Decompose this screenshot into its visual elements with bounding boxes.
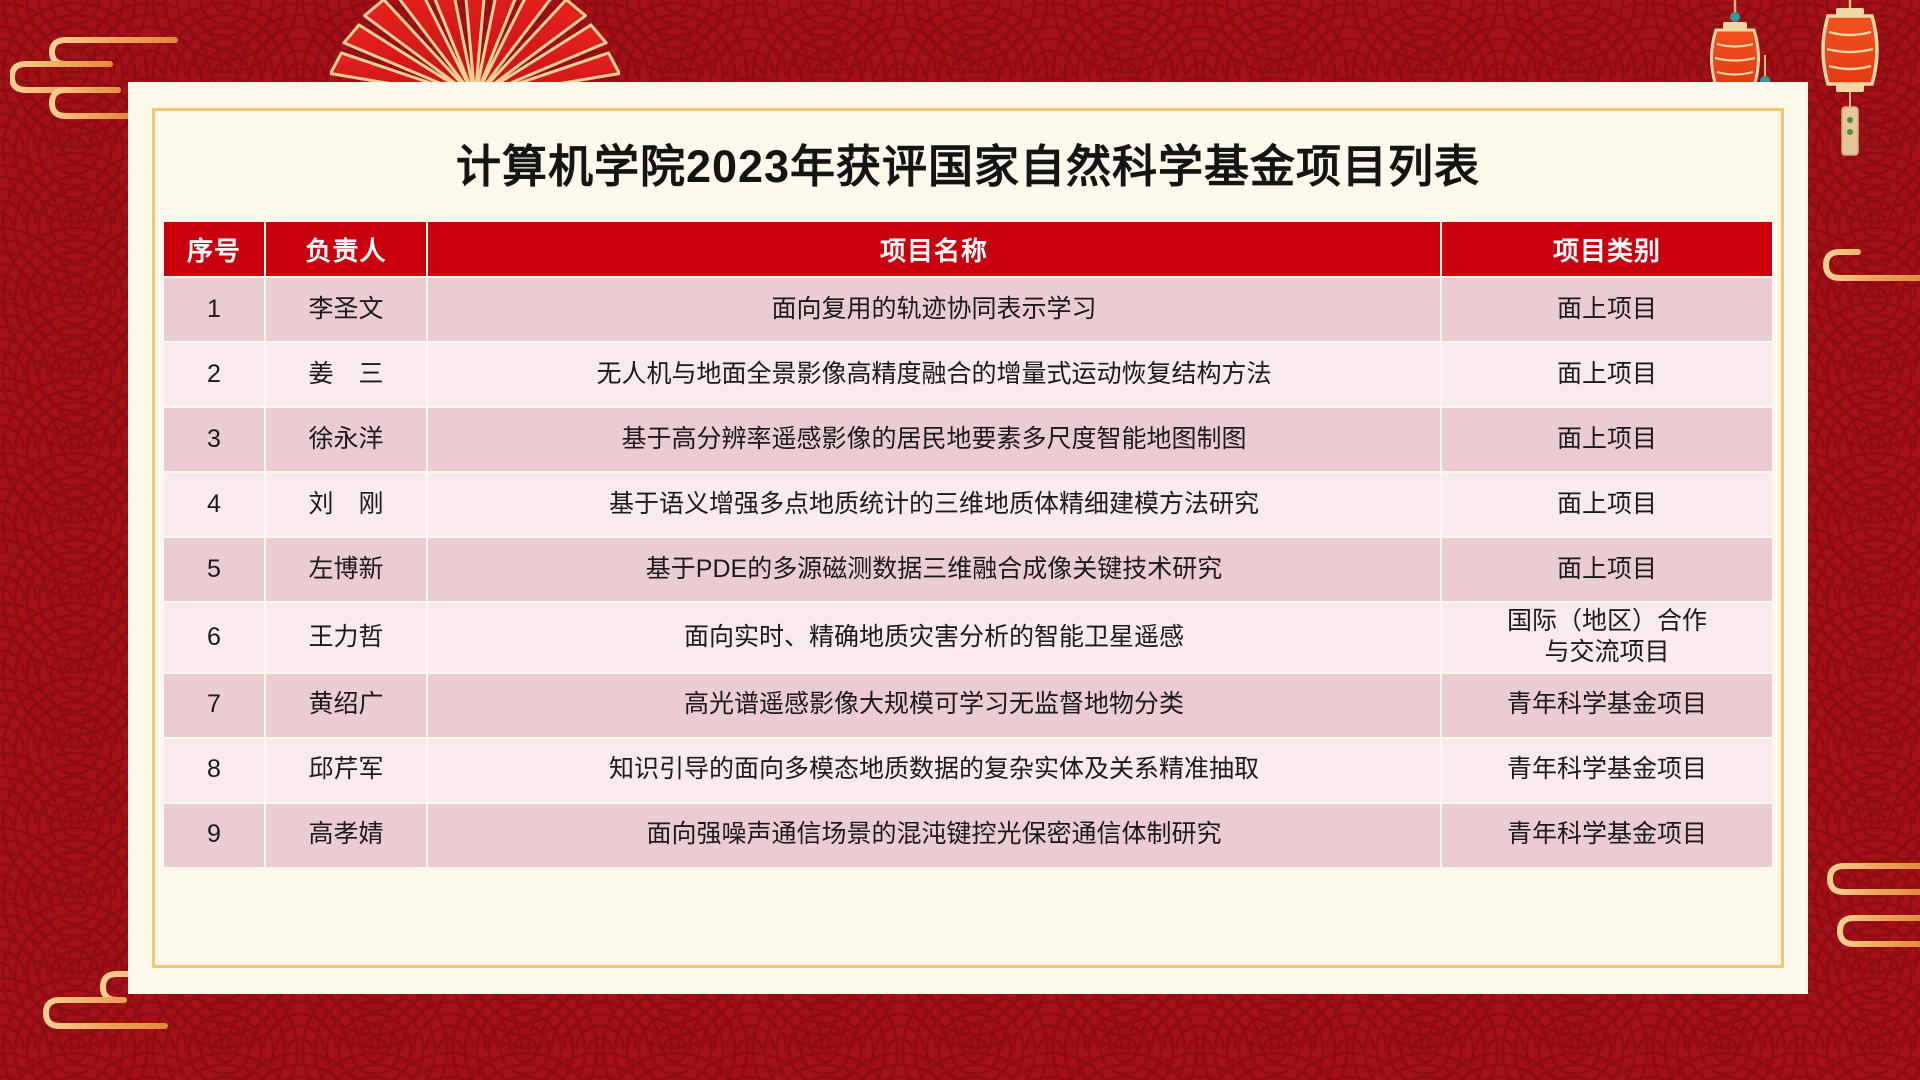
cell-leader: 李圣文 — [266, 278, 426, 341]
cell-project: 基于语义增强多点地质统计的三维地质体精细建模方法研究 — [428, 473, 1440, 536]
table-row: 9高孝婧面向强噪声通信场景的混沌键控光保密通信体制研究青年科学基金项目 — [164, 804, 1772, 867]
cell-project: 面向实时、精确地质灾害分析的智能卫星遥感 — [428, 603, 1440, 672]
table-row: 6王力哲面向实时、精确地质灾害分析的智能卫星遥感国际（地区）合作 与交流项目 — [164, 603, 1772, 672]
cell-leader: 王力哲 — [266, 603, 426, 672]
content-card: 计算机学院2023年获评国家自然科学基金项目列表 序号 负责人 项目名称 项目类… — [128, 82, 1808, 994]
cell-leader: 高孝婧 — [266, 804, 426, 867]
cell-project: 高光谱遥感影像大规模可学习无监督地物分类 — [428, 674, 1440, 737]
cell-project: 基于PDE的多源磁测数据三维融合成像关键技术研究 — [428, 538, 1440, 601]
table-body: 1李圣文面向复用的轨迹协同表示学习面上项目2姜 三无人机与地面全景影像高精度融合… — [164, 278, 1772, 867]
table-header-row: 序号 负责人 项目名称 项目类别 — [164, 222, 1772, 276]
cell-leader: 左博新 — [266, 538, 426, 601]
cell-index: 9 — [164, 804, 264, 867]
cell-index: 4 — [164, 473, 264, 536]
cell-index: 5 — [164, 538, 264, 601]
column-header-leader: 负责人 — [266, 222, 426, 276]
cell-project: 基于高分辨率遥感影像的居民地要素多尺度智能地图制图 — [428, 408, 1440, 471]
cell-category: 面上项目 — [1442, 408, 1772, 471]
cell-category: 面上项目 — [1442, 343, 1772, 406]
cell-project: 面向复用的轨迹协同表示学习 — [428, 278, 1440, 341]
cell-project: 知识引导的面向多模态地质数据的复杂实体及关系精准抽取 — [428, 739, 1440, 802]
table-header: 序号 负责人 项目名称 项目类别 — [164, 222, 1772, 276]
cell-leader: 姜 三 — [266, 343, 426, 406]
cell-leader: 刘 刚 — [266, 473, 426, 536]
cell-index: 3 — [164, 408, 264, 471]
cell-category: 青年科学基金项目 — [1442, 804, 1772, 867]
table-row: 5左博新基于PDE的多源磁测数据三维融合成像关键技术研究面上项目 — [164, 538, 1772, 601]
column-header-project: 项目名称 — [428, 222, 1440, 276]
cell-index: 7 — [164, 674, 264, 737]
cell-category: 面上项目 — [1442, 473, 1772, 536]
cell-index: 1 — [164, 278, 264, 341]
cell-index: 2 — [164, 343, 264, 406]
page-title: 计算机学院2023年获评国家自然科学基金项目列表 — [128, 130, 1808, 195]
table-row: 1李圣文面向复用的轨迹协同表示学习面上项目 — [164, 278, 1772, 341]
cell-project: 无人机与地面全景影像高精度融合的增量式运动恢复结构方法 — [428, 343, 1440, 406]
table-row: 4刘 刚基于语义增强多点地质统计的三维地质体精细建模方法研究面上项目 — [164, 473, 1772, 536]
cell-leader: 黄绍广 — [266, 674, 426, 737]
table-row: 8邱芹军知识引导的面向多模态地质数据的复杂实体及关系精准抽取青年科学基金项目 — [164, 739, 1772, 802]
table-row: 3徐永洋基于高分辨率遥感影像的居民地要素多尺度智能地图制图面上项目 — [164, 408, 1772, 471]
project-list-table: 序号 负责人 项目名称 项目类别 1李圣文面向复用的轨迹协同表示学习面上项目2姜… — [162, 220, 1774, 869]
table-row: 7黄绍广高光谱遥感影像大规模可学习无监督地物分类青年科学基金项目 — [164, 674, 1772, 737]
column-header-index: 序号 — [164, 222, 264, 276]
cell-category: 国际（地区）合作 与交流项目 — [1442, 603, 1772, 672]
cell-leader: 邱芹军 — [266, 739, 426, 802]
cell-category: 面上项目 — [1442, 538, 1772, 601]
cell-index: 6 — [164, 603, 264, 672]
cell-project: 面向强噪声通信场景的混沌键控光保密通信体制研究 — [428, 804, 1440, 867]
column-header-category: 项目类别 — [1442, 222, 1772, 276]
table-row: 2姜 三无人机与地面全景影像高精度融合的增量式运动恢复结构方法面上项目 — [164, 343, 1772, 406]
cell-category: 面上项目 — [1442, 278, 1772, 341]
cell-index: 8 — [164, 739, 264, 802]
cell-category: 青年科学基金项目 — [1442, 674, 1772, 737]
cell-category: 青年科学基金项目 — [1442, 739, 1772, 802]
cell-leader: 徐永洋 — [266, 408, 426, 471]
